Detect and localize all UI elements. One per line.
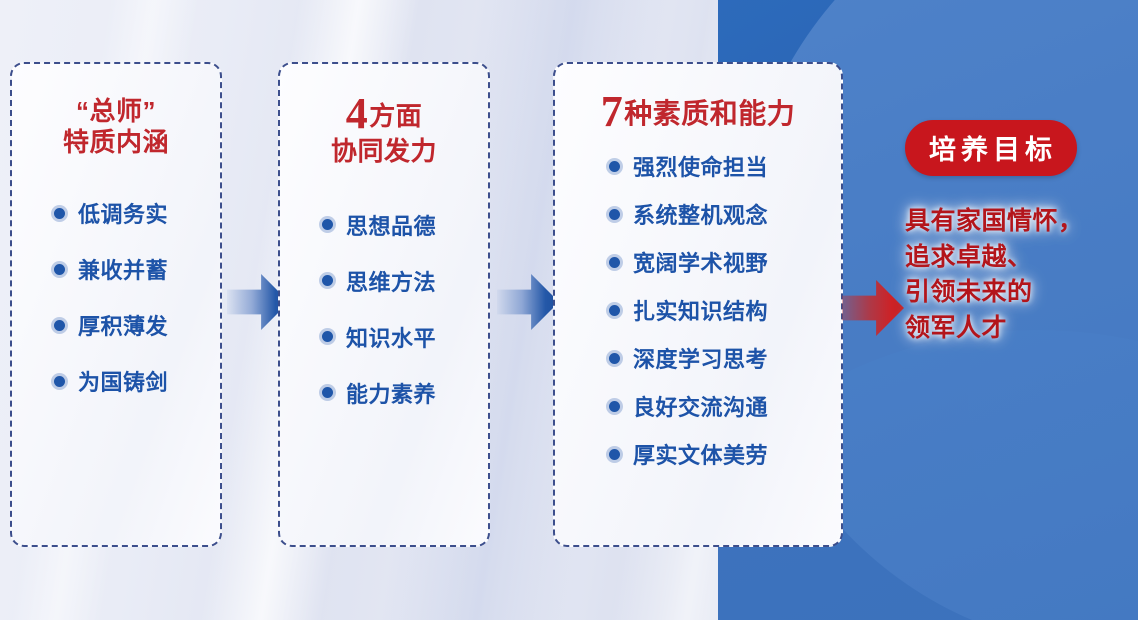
list-item-label: 兼收并蓄	[78, 253, 168, 285]
panel-title: “总师” 特质内涵	[12, 96, 220, 157]
list-item-label: 厚积薄发	[78, 309, 168, 341]
list-item-label: 厚实文体美劳	[633, 438, 768, 470]
bullet-dot-icon	[609, 305, 620, 316]
panel-title-line: 4方面	[280, 92, 488, 136]
list-item[interactable]: 良好交流沟通	[555, 390, 841, 422]
bullet-dot-icon	[322, 275, 333, 286]
list-item-label: 能力素养	[346, 377, 436, 409]
list-item[interactable]: 深度学习思考	[555, 342, 841, 374]
goal-line: 领军人才	[905, 311, 1125, 347]
list-item[interactable]: 厚实文体美劳	[555, 438, 841, 470]
panel-title-text: 种素质和能力	[624, 98, 795, 129]
bullet-dot-icon	[609, 401, 620, 412]
list-item-label: 思想品德	[346, 209, 436, 241]
list-item-label: 良好交流沟通	[633, 390, 768, 422]
list-item[interactable]: 思想品德	[280, 209, 488, 241]
list-item-label: 宽阔学术视野	[633, 246, 768, 278]
panel-item-list: 强烈使命担当 系统整机观念 宽阔学术视野 扎实知识结构 深度学习思考 良好交流沟…	[555, 150, 841, 470]
panel-item-list: 思想品德 思维方法 知识水平 能力素养	[280, 209, 488, 409]
bullet-dot-icon	[609, 353, 620, 364]
status-badge: 培养目标	[905, 120, 1077, 176]
bullet-dot-icon	[54, 208, 65, 219]
goal-line: 具有家国情怀，	[905, 204, 1125, 240]
goal-description: 具有家国情怀， 追求卓越、 引领未来的 领军人才	[905, 204, 1125, 346]
bullet-dot-icon	[54, 320, 65, 331]
list-item[interactable]: 厚积薄发	[12, 309, 220, 341]
bullet-dot-icon	[609, 257, 620, 268]
bullet-dot-icon	[54, 376, 65, 387]
panel-title: 4方面 协同发力	[280, 92, 488, 167]
list-item-label: 强烈使命担当	[633, 150, 768, 182]
list-item-label: 扎实知识结构	[633, 294, 768, 326]
panel-title: 7种素质和能力	[555, 90, 841, 134]
panel-seven-qualities[interactable]: 7种素质和能力 强烈使命担当 系统整机观念 宽阔学术视野 扎实知识结构 深度学习…	[553, 62, 843, 547]
panel-chief-designer-traits[interactable]: “总师” 特质内涵 低调务实 兼收并蓄 厚积薄发 为国铸剑	[10, 62, 222, 547]
goal-line: 追求卓越、	[905, 240, 1125, 276]
list-item-label: 为国铸剑	[78, 365, 168, 397]
list-item[interactable]: 为国铸剑	[12, 365, 220, 397]
goal-line: 引领未来的	[905, 275, 1125, 311]
infographic-canvas: “总师” 特质内涵 低调务实 兼收并蓄 厚积薄发 为国铸剑 4方面 协同发力 思…	[0, 0, 1138, 620]
bullet-dot-icon	[322, 387, 333, 398]
bullet-dot-icon	[609, 209, 620, 220]
panel-title-line: 协同发力	[280, 136, 488, 167]
panel-number: 4	[346, 89, 369, 138]
list-item[interactable]: 知识水平	[280, 321, 488, 353]
goal-section: 培养目标 具有家国情怀， 追求卓越、 引领未来的 领军人才	[905, 120, 1125, 346]
bullet-dot-icon	[322, 331, 333, 342]
panel-title-line: 7种素质和能力	[555, 90, 841, 134]
bullet-dot-icon	[609, 161, 620, 172]
panel-number: 7	[601, 87, 624, 136]
panel-title-line: 特质内涵	[12, 127, 220, 158]
bullet-dot-icon	[322, 219, 333, 230]
list-item-label: 低调务实	[78, 197, 168, 229]
panel-item-list: 低调务实 兼收并蓄 厚积薄发 为国铸剑	[12, 197, 220, 397]
list-item[interactable]: 能力素养	[280, 377, 488, 409]
bullet-dot-icon	[609, 449, 620, 460]
panel-four-aspects[interactable]: 4方面 协同发力 思想品德 思维方法 知识水平 能力素养	[278, 62, 490, 547]
list-item[interactable]: 宽阔学术视野	[555, 246, 841, 278]
list-item-label: 系统整机观念	[633, 198, 768, 230]
list-item[interactable]: 扎实知识结构	[555, 294, 841, 326]
list-item-label: 知识水平	[346, 321, 436, 353]
list-item[interactable]: 兼收并蓄	[12, 253, 220, 285]
panel-title-text: 方面	[369, 101, 422, 131]
list-item[interactable]: 系统整机观念	[555, 198, 841, 230]
list-item[interactable]: 低调务实	[12, 197, 220, 229]
list-item[interactable]: 思维方法	[280, 265, 488, 297]
list-item-label: 思维方法	[346, 265, 436, 297]
list-item[interactable]: 强烈使命担当	[555, 150, 841, 182]
panel-title-line: “总师”	[12, 96, 220, 127]
list-item-label: 深度学习思考	[633, 342, 768, 374]
bullet-dot-icon	[54, 264, 65, 275]
